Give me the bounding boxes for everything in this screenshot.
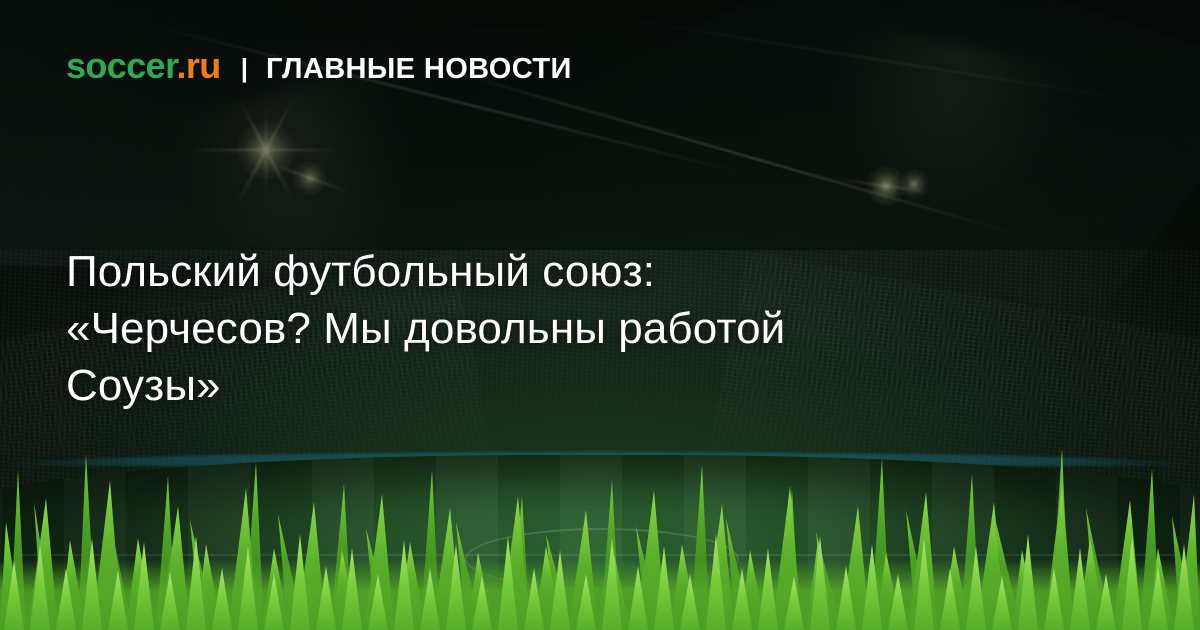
logo-word-soccer: soccer xyxy=(66,45,177,86)
logo-word-ru: .ru xyxy=(177,45,221,86)
headline-line-3: Соузы» xyxy=(66,357,1096,414)
headline-line-2: «Черчесов? Мы довольны работой xyxy=(66,300,1096,357)
news-share-card: soccer.ru | ГЛАВНЫЕ НОВОСТИ Польский фут… xyxy=(0,0,1200,630)
section-label: ГЛАВНЫЕ НОВОСТИ xyxy=(266,55,572,84)
soccer-ru-logo[interactable]: soccer.ru xyxy=(66,48,221,84)
header-separator: | xyxy=(241,55,248,81)
article-headline: Польский футбольный союз: «Черчесов? Мы … xyxy=(66,243,1096,414)
card-header: soccer.ru | ГЛАВНЫЕ НОВОСТИ xyxy=(66,48,572,84)
headline-line-1: Польский футбольный союз: xyxy=(66,243,1096,300)
